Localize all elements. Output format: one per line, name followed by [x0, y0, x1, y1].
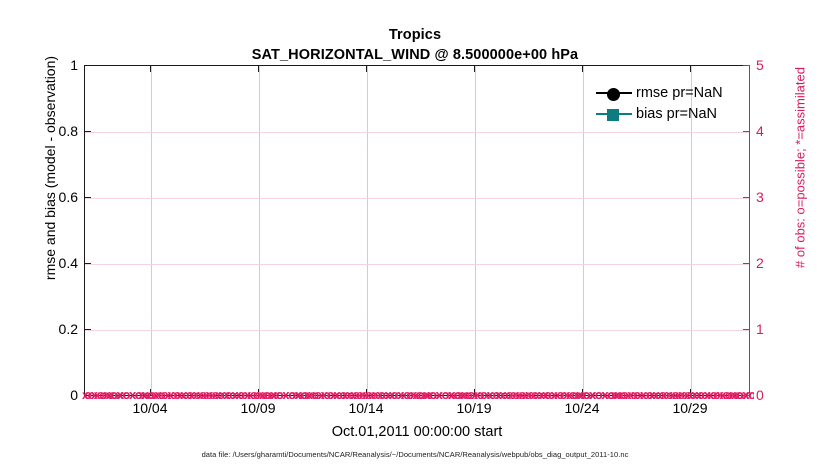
gridline-horizontal	[85, 330, 749, 331]
gridline-vertical	[583, 66, 584, 395]
x-axis-label: Oct.01,2011 00:00:00 start	[84, 424, 750, 440]
xtick-top	[474, 66, 475, 72]
gridline-vertical	[259, 66, 260, 395]
gridline-horizontal	[85, 132, 749, 133]
ytick-label-left: 0	[18, 388, 78, 402]
xtick-label: 10/29	[650, 400, 730, 416]
data-file-caption: data file: /Users/gharamti/Documents/NCA…	[0, 450, 830, 459]
gridline-vertical	[367, 66, 368, 395]
chart-legend: rmse pr=NaN bias pr=NaN	[594, 80, 744, 126]
xtick-top	[150, 66, 151, 72]
legend-item-bias[interactable]: bias pr=NaN	[594, 103, 744, 124]
legend-item-rmse[interactable]: rmse pr=NaN	[594, 82, 744, 103]
xtick-top	[258, 66, 259, 72]
ytick-label-right: 2	[756, 256, 764, 270]
ytick-label-right: 0	[756, 388, 764, 402]
gridline-horizontal	[85, 198, 749, 199]
ytick-label-right: 3	[756, 190, 764, 204]
y-axis-label-left: rmse and bias (model - observation)	[42, 8, 58, 328]
xtick	[690, 389, 691, 396]
ytick-label-right: 4	[756, 124, 764, 138]
ytick-label-right: 1	[756, 322, 764, 336]
gridline-vertical	[151, 66, 152, 395]
ytick-label-right: 5	[756, 58, 764, 72]
xtick-label: 10/09	[218, 400, 298, 416]
legend-label-rmse: rmse pr=NaN	[636, 85, 723, 101]
xtick	[582, 389, 583, 396]
ytick-right	[743, 395, 750, 396]
xtick	[366, 389, 367, 396]
xtick	[474, 389, 475, 396]
gridline-vertical	[475, 66, 476, 395]
xtick-top	[582, 66, 583, 72]
ytick-left	[84, 329, 91, 330]
chart-subtitle: SAT_HORIZONTAL_WIND @ 8.500000e+00 hPa	[0, 45, 830, 66]
xtick-label: 10/14	[326, 400, 406, 416]
ytick-left	[84, 395, 91, 396]
chart-title-block: Tropics SAT_HORIZONTAL_WIND @ 8.500000e+…	[0, 26, 830, 66]
legend-marker-square-icon	[594, 106, 634, 122]
xtick	[258, 389, 259, 396]
xtick-label: 10/19	[434, 400, 514, 416]
y-axis-label-right: # of obs: o=possible; *=assimilated	[793, 8, 808, 328]
ytick-right	[743, 263, 750, 264]
ytick-left	[84, 65, 91, 66]
ytick-left	[84, 131, 91, 132]
legend-label-bias: bias pr=NaN	[636, 106, 717, 122]
ytick-right	[743, 131, 750, 132]
ytick-right	[743, 197, 750, 198]
ytick-right	[743, 329, 750, 330]
xtick-top	[690, 66, 691, 72]
xtick	[150, 389, 151, 396]
ytick-right	[743, 65, 750, 66]
xtick-label: 10/04	[110, 400, 190, 416]
ytick-left	[84, 197, 91, 198]
ytick-left	[84, 263, 91, 264]
xtick-top	[366, 66, 367, 72]
page-title: Tropics	[0, 26, 830, 45]
gridline-horizontal	[85, 264, 749, 265]
xtick-label: 10/24	[542, 400, 622, 416]
legend-marker-circle-icon	[594, 85, 634, 101]
